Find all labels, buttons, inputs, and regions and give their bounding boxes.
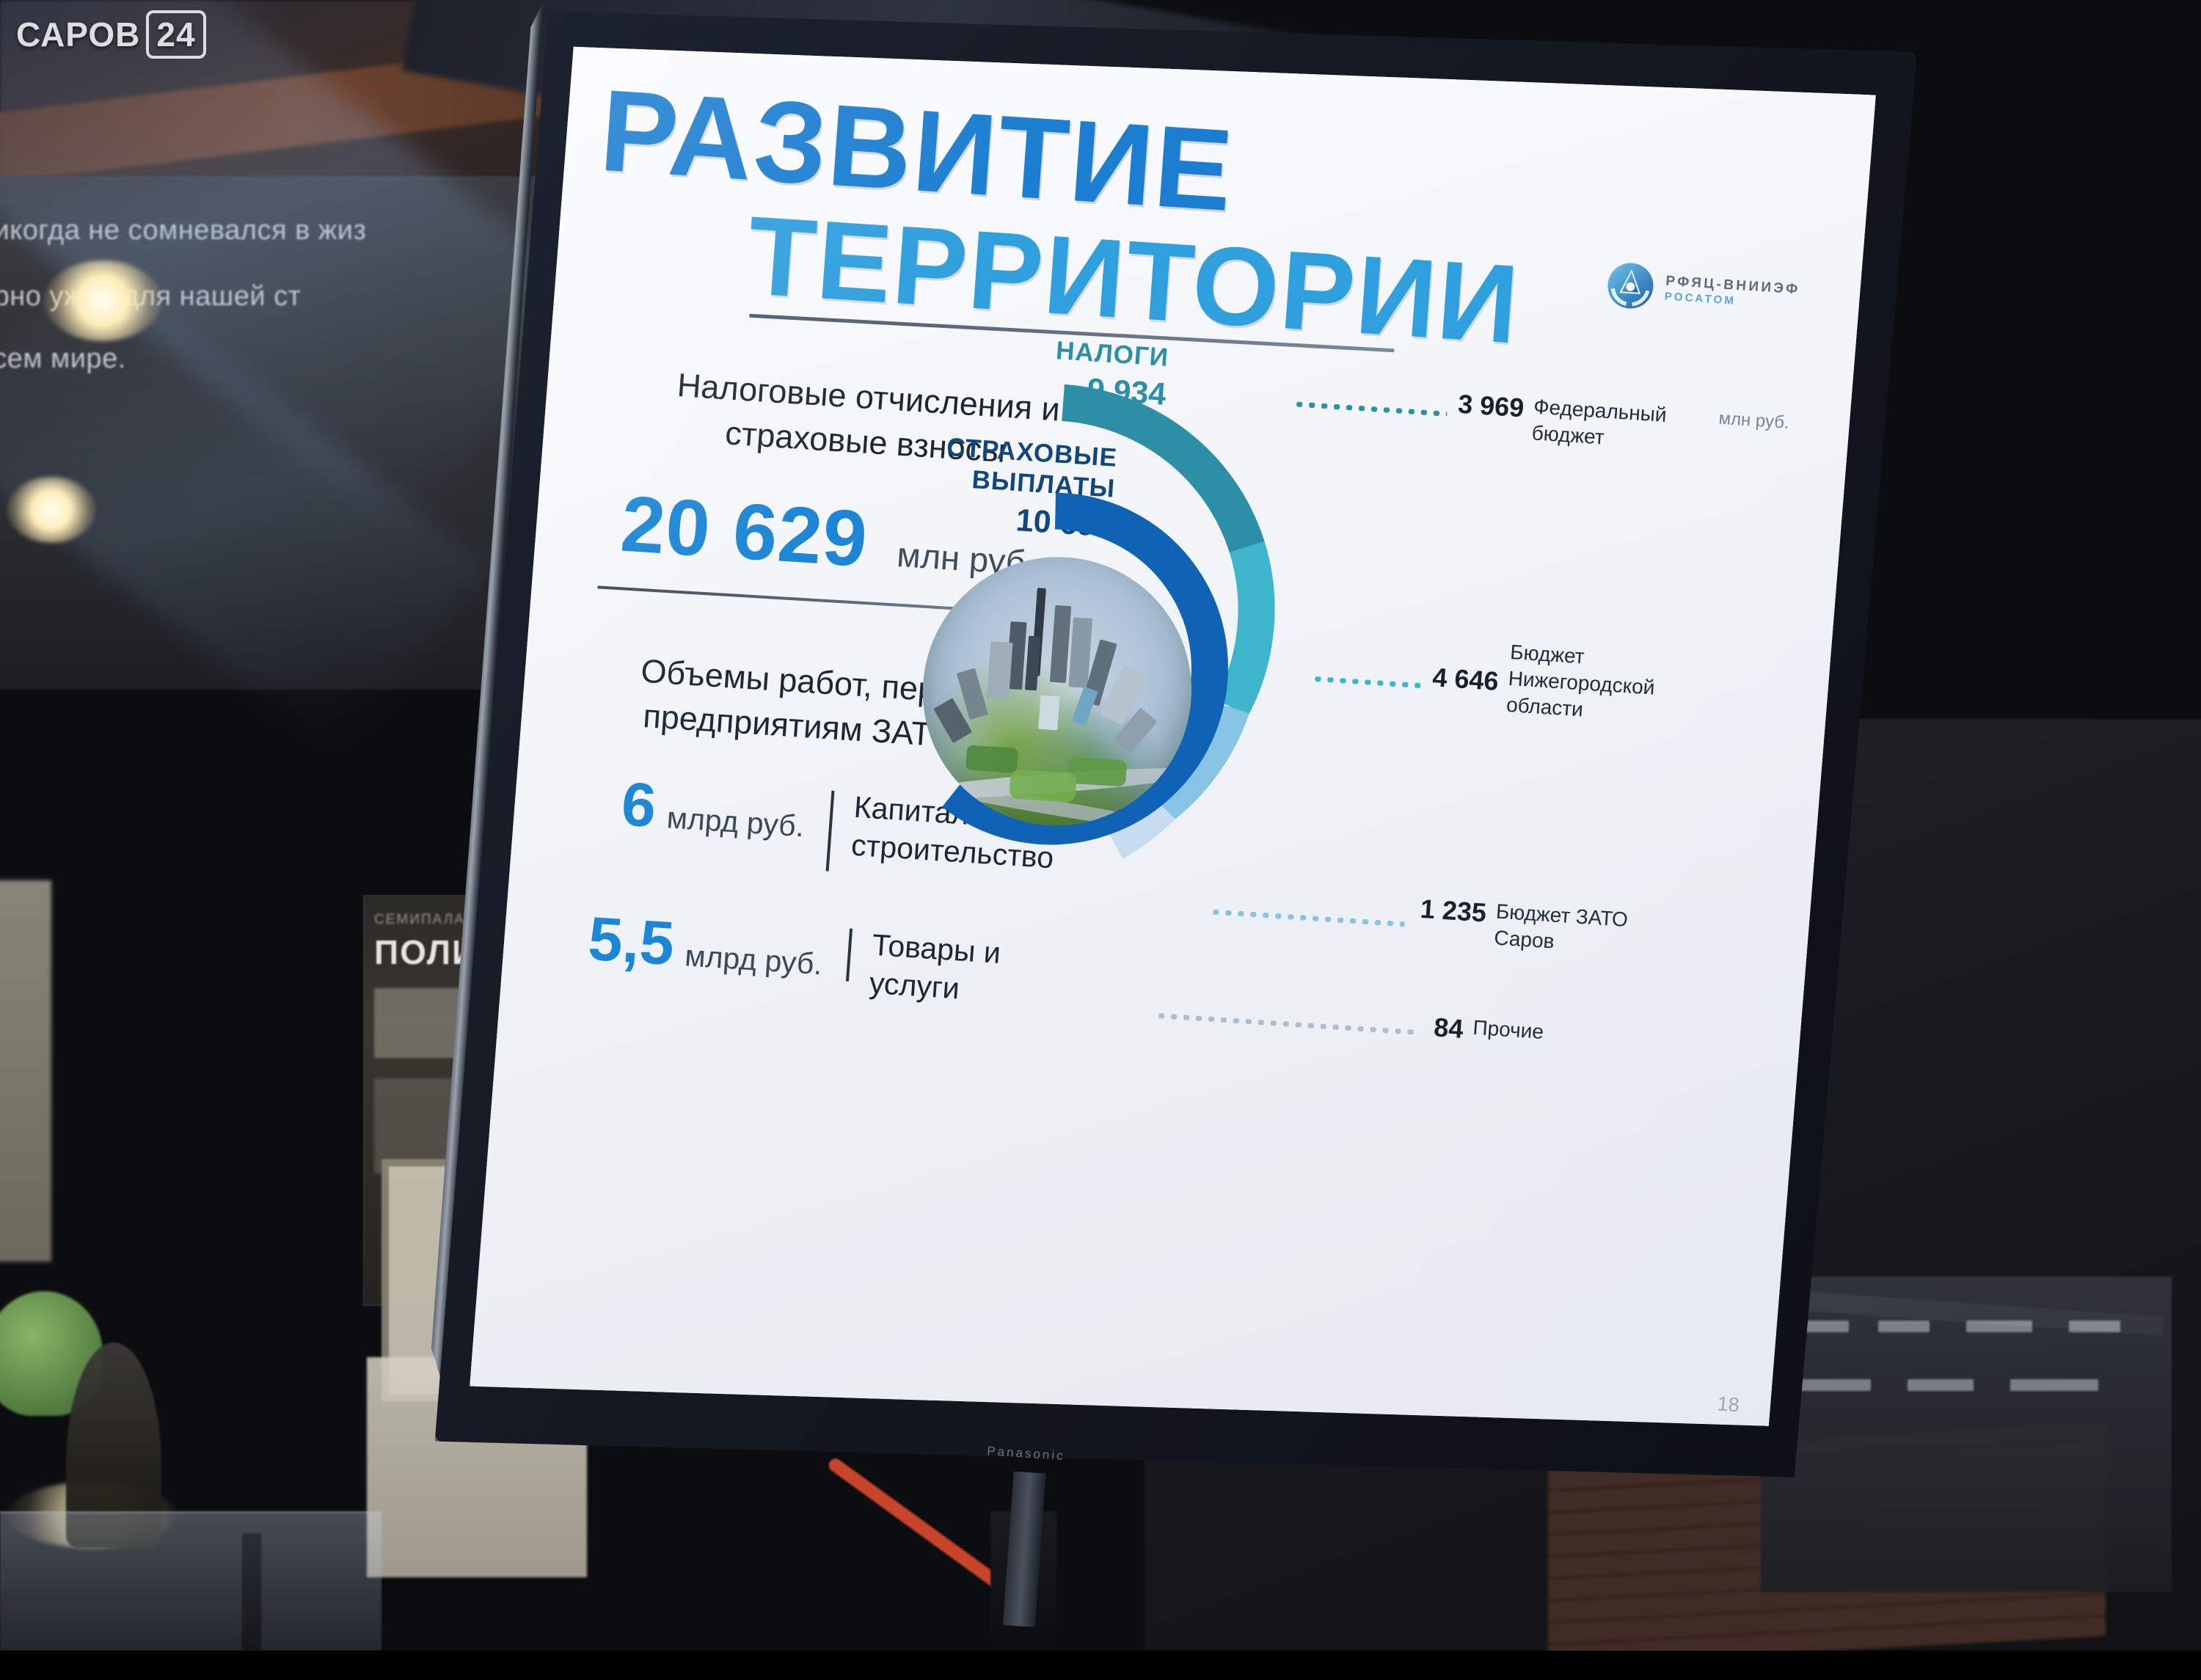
works-item-1-value: 6 [619,773,658,836]
channel-watermark: САРОВ 24 [16,10,206,59]
breakdown-item-zato-value: 1 235 [1419,894,1487,929]
rosatom-atom-icon [1605,260,1657,312]
breakdown-item-region: 4 646 Бюджет Нижегородской области [1430,634,1668,728]
rfnc-vniief-logo: РФЯЦ-ВНИИЭФ РОСАТОМ [1605,260,1801,321]
works-item-2-unit: млрд руб. [684,938,823,982]
works-item-1-unit: млрд руб. [665,800,805,844]
lead-value: 20 629 [618,478,871,585]
tv-screen: РАЗВИТИЕ ТЕРРИТОРИИ [470,10,1876,1470]
works-item-1-separator [826,791,835,872]
watermark-badge: 24 [146,10,205,59]
units-note: млн руб. [1718,409,1790,434]
breakdown-item-region-label: Бюджет Нижегородской области [1505,639,1668,728]
watermark-name: САРОВ [16,15,140,54]
works-item-2-value: 5,5 [586,907,676,974]
spotlight-lamp-1 [44,260,161,341]
slide-number: 18 [1717,1392,1740,1417]
breakdown-item-other-label: Прочие [1472,1015,1591,1048]
slide-canvas: РАЗВИТИЕ ТЕРРИТОРИИ [470,10,1876,1470]
display-case [0,1511,382,1651]
doorway-light [0,880,51,1262]
breakdown-item-other-value: 84 [1433,1012,1464,1044]
case-post [242,1533,261,1651]
slice-region-budget [1232,547,1261,709]
breakdown-item-federal-value: 3 969 [1457,389,1525,424]
presentation-display: РАЗВИТИЕ ТЕРРИТОРИИ [431,0,1968,1592]
breakdown-item-zato-label: Бюджет ЗАТО Саров [1493,898,1654,960]
breakdown-item-federal: 3 969 Федеральный бюджет [1456,389,1693,456]
breakdown-item-region-value: 4 646 [1431,662,1500,697]
breakdown-item-federal-label: Федеральный бюджет [1531,393,1693,456]
spotlight-lamp-2 [7,477,95,543]
breakdown-item-zato: 1 235 Бюджет ЗАТО Саров [1417,894,1654,961]
breakdown-item-other: 84 Прочие [1433,1012,1591,1053]
